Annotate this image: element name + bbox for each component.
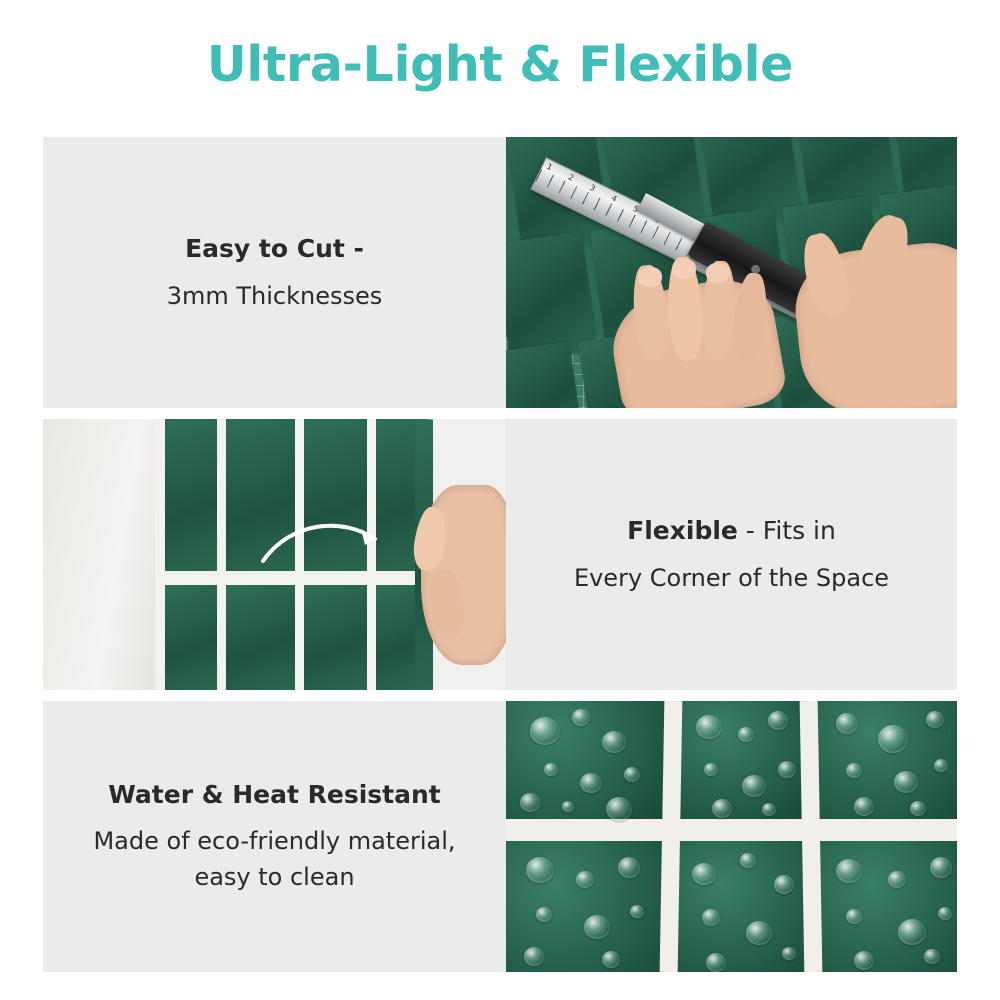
feature-title-water-heat-resistant: Water & Heat Resistant	[108, 778, 441, 812]
water-droplet	[930, 857, 952, 878]
water-droplet	[692, 863, 716, 885]
water-droplet	[618, 857, 640, 878]
water-droplet	[768, 711, 788, 730]
water-droplet	[836, 713, 858, 734]
feature-text-easy-to-cut: Easy to Cut - 3mm Thicknesses	[43, 137, 506, 408]
water-droplet	[702, 909, 720, 926]
fingernail	[638, 267, 662, 287]
water-droplet	[924, 949, 940, 964]
feature-text-water-heat-resistant: Water & Heat Resistant Made of eco-frien…	[43, 701, 506, 972]
water-droplet	[524, 947, 544, 966]
water-droplet	[836, 859, 862, 883]
grout-line	[155, 419, 165, 690]
feature-subtitle-easy-to-cut: 3mm Thicknesses	[167, 280, 383, 312]
feature-title-flexible-bold: Flexible	[627, 516, 738, 545]
water-droplet	[854, 797, 874, 816]
water-droplet	[544, 763, 558, 776]
water-droplet	[712, 799, 732, 818]
water-droplet	[740, 853, 756, 868]
water-droplet	[774, 875, 794, 894]
water-droplet	[630, 905, 644, 918]
water-droplet	[624, 767, 640, 782]
water-droplet	[938, 907, 952, 920]
water-droplet	[606, 797, 632, 821]
water-droplet	[572, 709, 590, 726]
water-droplet	[762, 803, 776, 816]
water-droplet	[526, 857, 554, 883]
water-droplet	[738, 727, 754, 742]
tile	[163, 585, 219, 690]
water-droplet	[520, 793, 540, 812]
feature-title-easy-to-cut: Easy to Cut -	[185, 232, 364, 266]
feature-title-flexible: Flexible - Fits in	[627, 514, 836, 548]
tile	[225, 585, 297, 690]
water-droplet	[746, 921, 772, 945]
water-droplet	[742, 775, 766, 797]
grout-line	[506, 819, 957, 841]
feature-row-easy-to-cut: Easy to Cut - 3mm Thicknesses	[43, 137, 957, 408]
water-droplet	[782, 947, 796, 960]
water-droplet	[934, 759, 948, 772]
feature-subtitle-line1: Made of eco-friendly material,	[93, 823, 455, 859]
feature-row-water-heat-resistant: Water & Heat Resistant Made of eco-frien…	[43, 701, 957, 972]
water-droplet	[704, 763, 718, 776]
water-droplet	[854, 951, 874, 970]
water-droplet	[562, 801, 574, 812]
water-droplet	[580, 773, 602, 793]
feature-row-flexible: Flexible - Fits in Every Corner of the S…	[43, 419, 957, 690]
wall-plain-left	[43, 419, 161, 690]
water-droplet	[584, 915, 610, 939]
feature-text-flexible: Flexible - Fits in Every Corner of the S…	[506, 419, 957, 690]
fingernail	[706, 263, 730, 283]
tile	[303, 585, 369, 690]
grout-line	[155, 571, 427, 585]
bend-direction-arrow-icon	[257, 515, 387, 571]
water-droplet	[878, 725, 908, 753]
water-droplet	[846, 909, 862, 924]
page-title: Ultra-Light & Flexible	[0, 36, 1000, 93]
feature-image-flexible	[43, 419, 506, 690]
water-droplet	[926, 711, 944, 728]
water-droplet	[778, 761, 796, 778]
grout-line	[217, 419, 226, 690]
tile	[163, 419, 219, 571]
water-droplet	[530, 717, 560, 745]
water-droplet	[576, 871, 594, 888]
water-droplet	[536, 907, 552, 922]
water-droplet	[910, 801, 926, 816]
feature-image-water-heat-resistant	[506, 701, 957, 972]
feature-title-flexible-suffix: - Fits in	[738, 516, 836, 545]
water-droplet	[706, 953, 726, 972]
feature-subtitle-line2: easy to clean	[194, 859, 354, 895]
water-droplet	[888, 871, 906, 888]
water-droplet	[602, 951, 620, 968]
fingernail	[672, 259, 696, 279]
water-droplet	[602, 731, 626, 753]
feature-subtitle-flexible: Every Corner of the Space	[574, 562, 889, 594]
infographic-page: Ultra-Light & Flexible Easy to Cut - 3mm…	[0, 0, 1000, 1000]
water-droplet	[696, 715, 722, 739]
water-droplet	[894, 771, 918, 793]
water-droplet	[898, 919, 926, 945]
feature-image-easy-to-cut: 1 2 3 4 5 6 7 8 9	[506, 137, 957, 408]
water-droplet	[846, 763, 862, 778]
